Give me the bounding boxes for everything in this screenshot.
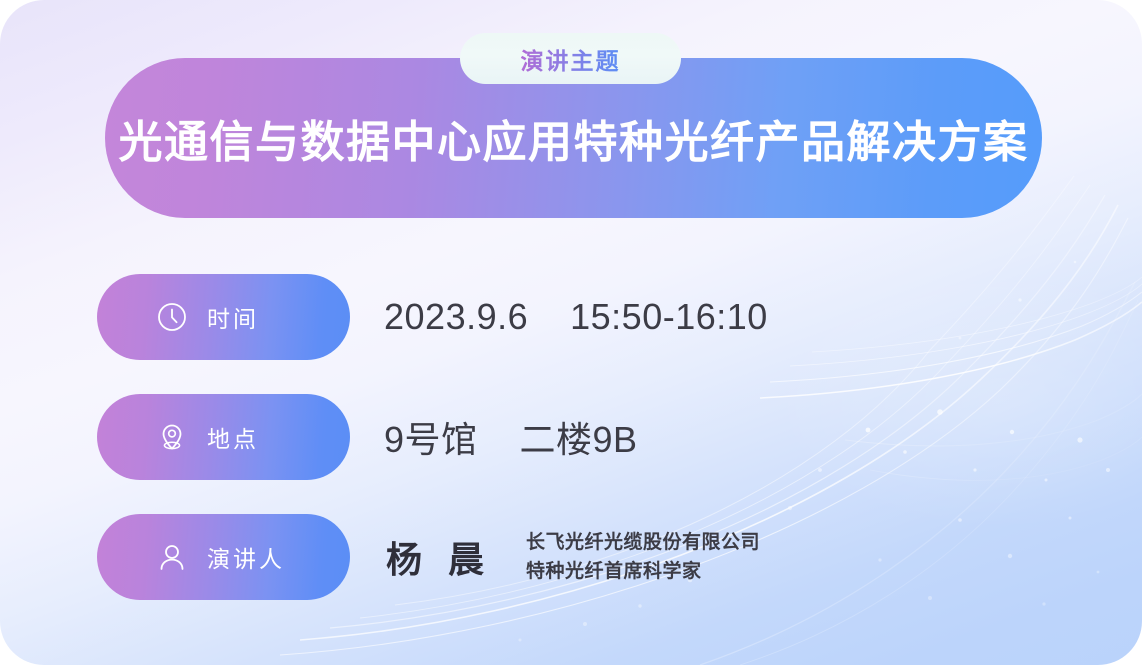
info-pill-speaker: 演讲人 bbox=[97, 514, 350, 600]
info-label-location: 地点 bbox=[207, 420, 259, 454]
speaker-session-card: 演讲主题 光通信与数据中心应用特种光纤产品解决方案 时间 2023.9.6 15… bbox=[0, 0, 1142, 665]
speaker-job-title: 特种光纤首席科学家 bbox=[526, 560, 760, 584]
info-value-location: 9号馆 二楼9B bbox=[384, 411, 638, 463]
info-pill-time: 时间 bbox=[97, 274, 350, 360]
speaker-company: 长飞光纤光缆股份有限公司 bbox=[526, 531, 760, 555]
section-badge-label: 演讲主题 bbox=[521, 42, 621, 76]
info-value-time: 2023.9.6 15:50-16:10 bbox=[384, 296, 768, 338]
info-row-location: 地点 9号馆 二楼9B bbox=[97, 394, 638, 480]
presentation-title: 光通信与数据中心应用特种光纤产品解决方案 bbox=[119, 106, 1029, 170]
info-pill-location: 地点 bbox=[97, 394, 350, 480]
info-row-time: 时间 2023.9.6 15:50-16:10 bbox=[97, 274, 768, 360]
location-pin-icon bbox=[155, 420, 189, 454]
section-badge: 演讲主题 bbox=[460, 33, 681, 84]
info-label-speaker: 演讲人 bbox=[207, 540, 285, 574]
speaker-name: 杨 晨 bbox=[386, 531, 486, 583]
info-row-speaker: 演讲人 杨 晨 长飞光纤光缆股份有限公司 特种光纤首席科学家 bbox=[97, 514, 760, 600]
speaker-affiliation: 长飞光纤光缆股份有限公司 特种光纤首席科学家 bbox=[526, 531, 760, 584]
info-label-time: 时间 bbox=[207, 300, 259, 334]
person-icon bbox=[155, 540, 189, 574]
clock-icon bbox=[155, 300, 189, 334]
